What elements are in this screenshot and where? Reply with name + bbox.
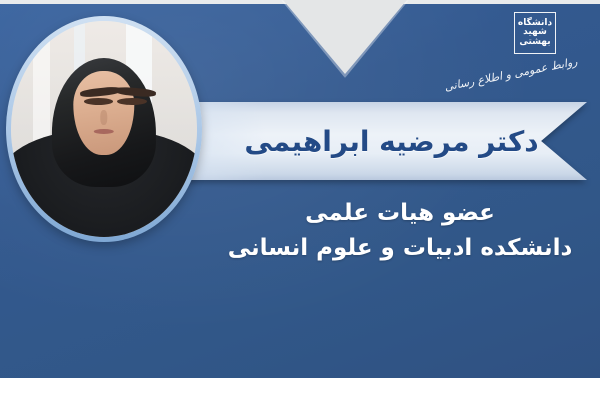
faculty-profile-card: دکتر مرضیه ابراهیمی عضو هیات علمی دانشکد…: [0, 0, 600, 400]
public-relations-caption: روابط عمومی و اطلاع رسانی: [474, 55, 579, 88]
name-ribbon-banner: دکتر مرضیه ابراهیمی: [150, 102, 587, 180]
portrait-photo: [11, 21, 197, 237]
bottom-edge-strip: [0, 378, 600, 400]
eye-right: [117, 98, 147, 105]
person-name: دکتر مرضیه ابراهیمی: [150, 102, 587, 180]
position-block: عضو هیات علمی دانشکده ادبیات و علوم انسا…: [205, 196, 595, 265]
logo-mark-box: دانشگاه شهید بهشتی: [514, 12, 556, 54]
avatar: [6, 16, 202, 242]
logo-mark-text: دانشگاه شهید بهشتی: [515, 19, 555, 47]
faculty-name: دانشکده ادبیات و علوم انسانی: [205, 231, 595, 266]
eye-left: [84, 98, 114, 105]
position-title: عضو هیات علمی: [205, 196, 595, 231]
university-logo: دانشگاه شهید بهشتی روابط عمومی و اطلاع ر…: [468, 8, 594, 94]
